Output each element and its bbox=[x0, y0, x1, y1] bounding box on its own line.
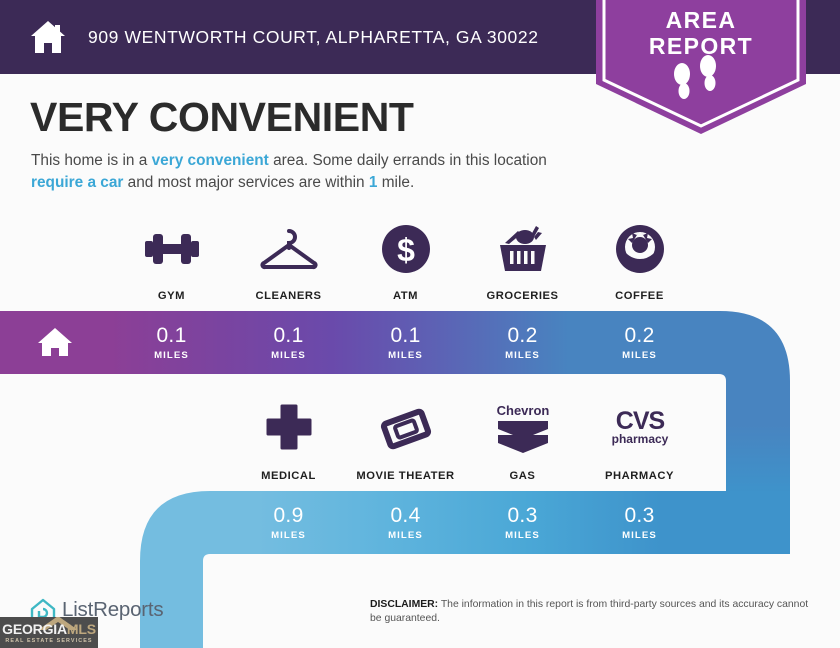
amenity-label: GYM bbox=[158, 290, 185, 302]
amenity-movie-theater: MOVIE THEATER bbox=[347, 398, 464, 482]
distance-value: 0.4 bbox=[390, 505, 420, 526]
area-report-page: 909 WENTWORTH COURT, ALPHARETTA, GA 3002… bbox=[0, 0, 840, 648]
badge-shield-icon bbox=[596, 0, 806, 134]
distance-unit: MILES bbox=[271, 530, 306, 541]
distance-unit: MILES bbox=[505, 530, 540, 541]
distance-unit: MILES bbox=[271, 350, 306, 361]
distance-cell: 0.9 MILES bbox=[230, 491, 347, 554]
dollar-circle-icon: $ bbox=[380, 218, 432, 280]
property-address: 909 WENTWORTH COURT, ALPHARETTA, GA 3002… bbox=[88, 27, 539, 48]
distance-unit: MILES bbox=[505, 350, 540, 361]
home-icon bbox=[26, 15, 70, 59]
svg-text:$: $ bbox=[397, 232, 415, 268]
amenity-label: GAS bbox=[510, 470, 536, 482]
amenity-label: PHARMACY bbox=[605, 470, 674, 482]
disclaimer-label: DISCLAIMER: bbox=[370, 599, 438, 610]
georgia-mls-badge: GEORGIAMLS REAL ESTATE SERVICES bbox=[0, 617, 98, 648]
distance-row-1: 0.1 MILES 0.1 MILES 0.1 MILES 0.2 MILES … bbox=[113, 311, 698, 374]
amenity-coffee: COFFEE bbox=[581, 218, 698, 302]
distance-value: 0.2 bbox=[624, 325, 654, 346]
amenity-icon-row-1: GYM CLEANERS $ ATM bbox=[113, 218, 698, 302]
distance-row-2: 0.9 MILES 0.4 MILES 0.3 MILES 0.3 MILES bbox=[230, 491, 698, 554]
amenity-label: ATM bbox=[393, 290, 418, 302]
amenity-label: COFFEE bbox=[615, 290, 664, 302]
amenity-icon-row-2: MEDICAL MOVIE THEATER Chevron bbox=[230, 398, 698, 482]
distance-cell: 0.3 MILES bbox=[464, 491, 581, 554]
distance-cell: 0.4 MILES bbox=[347, 491, 464, 554]
distance-value: 0.1 bbox=[390, 325, 420, 346]
amenity-medical: MEDICAL bbox=[230, 398, 347, 482]
amenity-pharmacy: CVS pharmacy PHARMACY bbox=[581, 398, 698, 482]
mls-georgia-text: GEORGIA bbox=[2, 621, 67, 637]
disclaimer: DISCLAIMER: The information in this repo… bbox=[370, 598, 822, 627]
distance-cell: 0.1 MILES bbox=[230, 311, 347, 374]
amenity-label: MOVIE THEATER bbox=[356, 470, 454, 482]
mls-tagline: REAL ESTATE SERVICES bbox=[0, 638, 98, 644]
distance-cell: 0.2 MILES bbox=[581, 311, 698, 374]
dumbbell-icon bbox=[141, 218, 203, 280]
distance-value: 0.1 bbox=[273, 325, 303, 346]
starbucks-icon bbox=[614, 218, 666, 280]
cvs-logo-icon: CVS pharmacy bbox=[601, 398, 679, 460]
distance-unit: MILES bbox=[388, 530, 423, 541]
svg-text:pharmacy: pharmacy bbox=[611, 432, 668, 446]
distance-unit: MILES bbox=[622, 350, 657, 361]
area-report-badge: AREA REPORT bbox=[596, 0, 806, 134]
distance-value: 0.3 bbox=[624, 505, 654, 526]
amenity-gas: Chevron GAS bbox=[464, 398, 581, 482]
svg-text:Chevron: Chevron bbox=[496, 403, 549, 418]
distance-value: 0.1 bbox=[156, 325, 186, 346]
hanger-icon bbox=[258, 218, 320, 280]
distance-cell: 0.1 MILES bbox=[347, 311, 464, 374]
distance-unit: MILES bbox=[154, 350, 189, 361]
distance-value: 0.9 bbox=[273, 505, 303, 526]
medical-cross-icon bbox=[263, 398, 315, 460]
distance-cell: 0.3 MILES bbox=[581, 491, 698, 554]
home-marker-icon bbox=[36, 325, 74, 359]
distance-value: 0.3 bbox=[507, 505, 537, 526]
amenity-label: GROCERIES bbox=[486, 290, 558, 302]
mls-mls-text: MLS bbox=[67, 621, 96, 637]
basket-icon bbox=[494, 218, 552, 280]
amenity-groceries: GROCERIES bbox=[464, 218, 581, 302]
mls-wordmark: GEORGIAMLS bbox=[0, 622, 98, 636]
distance-value: 0.2 bbox=[507, 325, 537, 346]
distance-cell: 0.2 MILES bbox=[464, 311, 581, 374]
distance-cell: 0.1 MILES bbox=[113, 311, 230, 374]
svg-text:CVS: CVS bbox=[615, 407, 664, 435]
ticket-icon bbox=[377, 398, 435, 460]
distance-unit: MILES bbox=[622, 530, 657, 541]
chevron-logo-icon: Chevron bbox=[492, 398, 554, 460]
amenity-atm: $ ATM bbox=[347, 218, 464, 302]
amenity-label: CLEANERS bbox=[256, 290, 322, 302]
amenity-gym: GYM bbox=[113, 218, 230, 302]
amenity-label: MEDICAL bbox=[261, 470, 316, 482]
amenity-cleaners: CLEANERS bbox=[230, 218, 347, 302]
distance-unit: MILES bbox=[388, 350, 423, 361]
